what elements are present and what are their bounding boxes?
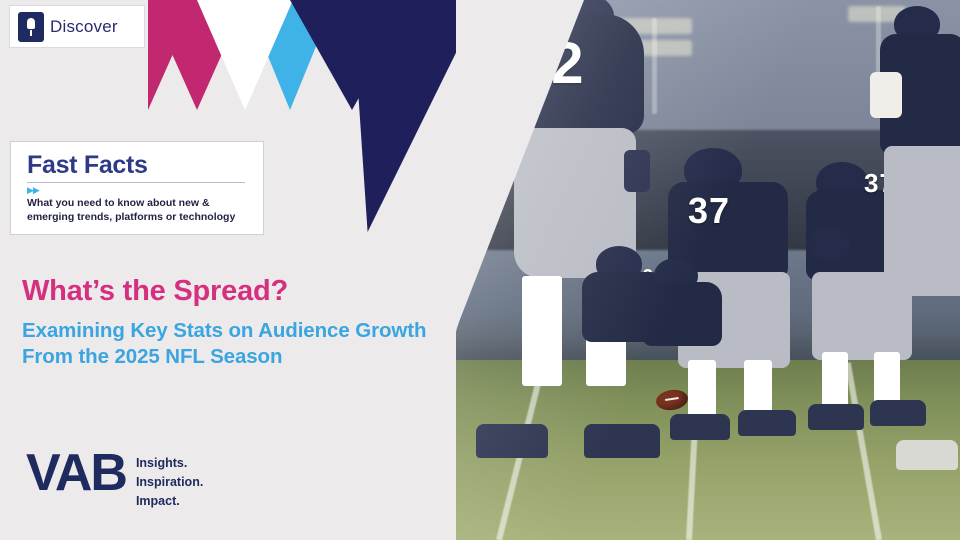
discover-label: Discover <box>50 17 118 37</box>
decorative-triangle-white-2 <box>245 0 293 110</box>
helmet-background-3 <box>808 226 850 260</box>
glove-32 <box>624 150 650 192</box>
fast-facts-subtitle: What you need to know about new & emergi… <box>27 196 255 224</box>
shoe-32-left <box>476 424 548 458</box>
discover-logo: Discover <box>9 5 145 48</box>
lightbulb-icon <box>18 12 44 42</box>
fast-facts-card: Fast Facts ▶▶ What you need to know abou… <box>10 141 264 235</box>
glove-6 <box>870 72 902 118</box>
vab-wordmark: VAB <box>26 447 126 499</box>
slide: Discover Fast Facts ▶▶ What you need to … <box>0 0 960 540</box>
shoe-37a-right <box>738 410 796 436</box>
vab-tagline-3: Impact. <box>136 493 203 510</box>
shoe-32-right <box>584 424 660 458</box>
shoe-37b-left <box>808 404 864 430</box>
jersey-number-37a: 37 <box>688 190 730 232</box>
vab-taglines: Insights. Inspiration. Impact. <box>136 455 203 510</box>
jersey-number-32: 32 <box>518 30 585 97</box>
fast-facts-divider <box>27 182 245 183</box>
hero-image: 32 37 37 <box>456 0 960 540</box>
jersey-background-2 <box>642 282 722 346</box>
page-title: What’s the Spread? <box>22 276 462 308</box>
vab-logo: VAB Insights. Inspiration. Impact. <box>26 447 203 510</box>
double-arrow-icon: ▶▶ <box>27 186 251 195</box>
page-subtitle: Examining Key Stats on Audience Growth F… <box>22 318 462 369</box>
vab-tagline-1: Insights. <box>136 455 203 472</box>
shoe-37b-right <box>870 400 926 426</box>
headline-block: What’s the Spread? Examining Key Stats o… <box>22 276 462 369</box>
sock-32-left <box>522 276 562 386</box>
pants-6 <box>884 146 960 296</box>
vab-tagline-2: Inspiration. <box>136 474 203 491</box>
left-panel: Discover Fast Facts ▶▶ What you need to … <box>0 0 480 540</box>
fast-facts-title: Fast Facts <box>27 152 251 178</box>
shoe-37a-left <box>670 414 730 440</box>
shoe-6 <box>896 440 958 470</box>
